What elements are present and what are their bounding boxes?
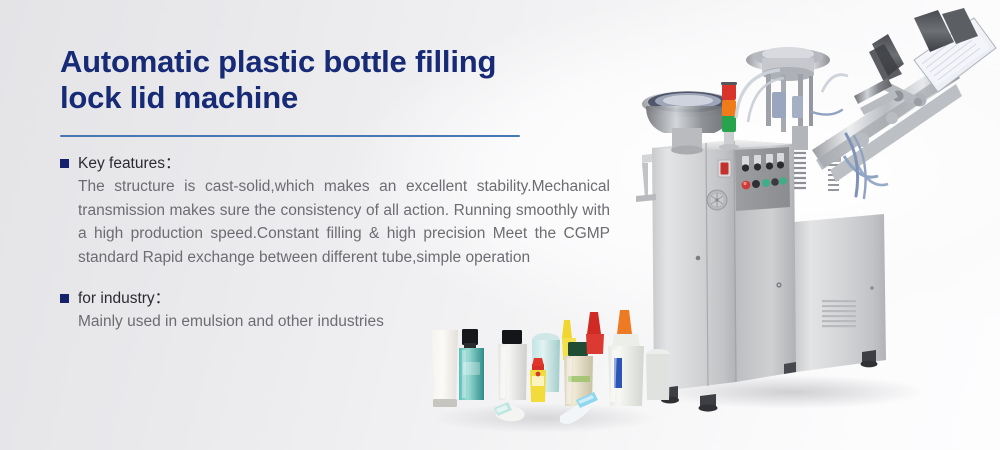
bottle-frosted-black-cap: [498, 330, 527, 400]
banner-text-column: Automatic plastic bottle filling lock li…: [60, 44, 620, 334]
feature-body: The structure is cast-solid,which makes …: [78, 175, 610, 269]
bottles-shadow: [432, 403, 656, 433]
bottle-teal-rectangular: [459, 329, 484, 400]
machine-lower-cabinet: [786, 214, 886, 372]
bullet-row: for industry：: [60, 288, 620, 309]
panel-main-switch: [718, 160, 731, 177]
bottle-yellow-dropper: [530, 358, 546, 402]
feature-block-key-features: Key features： The structure is cast-soli…: [60, 153, 620, 269]
title-divider: [60, 135, 520, 137]
bottle-white-jar: [646, 349, 670, 400]
feature-label: Key features：: [78, 153, 181, 174]
feature-body: Mainly used in emulsion and other indust…: [78, 310, 610, 334]
feature-label: for industry：: [78, 288, 170, 309]
bullet-row: Key features：: [60, 153, 620, 174]
product-banner: Automatic plastic bottle filling lock li…: [0, 0, 1000, 450]
page-title: Automatic plastic bottle filling lock li…: [60, 44, 560, 116]
bullet-square-icon: [60, 159, 69, 168]
bottle-white-tube: [432, 330, 458, 407]
bullet-square-icon: [60, 294, 69, 303]
feature-block-for-industry: for industry： Mainly used in emulsion an…: [60, 288, 620, 334]
